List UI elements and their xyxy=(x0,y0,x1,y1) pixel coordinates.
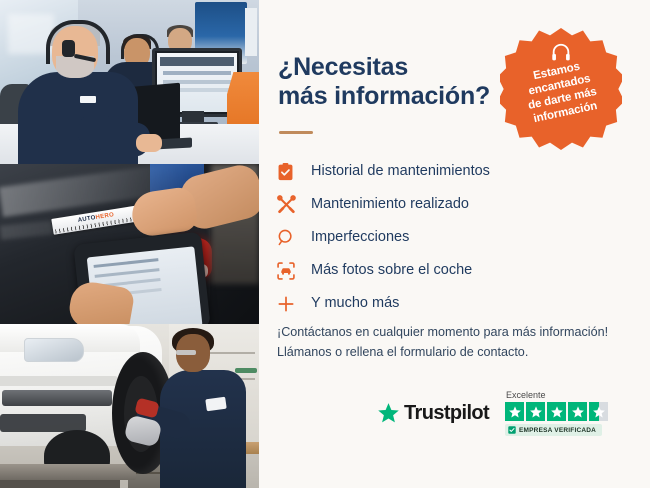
car-bumper xyxy=(0,376,118,386)
star-filled xyxy=(568,402,587,421)
magnifier-icon xyxy=(276,229,311,247)
star-half-filled xyxy=(589,402,608,421)
feature-item-maintenance-done: Mantenimiento realizado xyxy=(276,188,636,221)
trustpilot-score-block: Excelente xyxy=(505,390,637,439)
trustpilot-logo[interactable]: Trustpilot xyxy=(377,402,489,425)
contact-copy-line-1: ¡Contáctanos en cualquier momento para m… xyxy=(277,322,637,342)
trustpilot-rating-label: Excelente xyxy=(505,390,637,400)
headset-earcup xyxy=(62,40,75,57)
plus-icon xyxy=(276,295,311,313)
trustpilot-star-icon xyxy=(377,402,400,425)
promo-card: AUTOHERO xyxy=(0,0,650,488)
feature-item-much-more: Y mucho más xyxy=(276,287,636,320)
verified-company-label: EMPRESA VERIFICADA xyxy=(519,427,596,434)
car-headlight xyxy=(24,338,84,362)
headline-line-2: más información? xyxy=(278,82,518,111)
star-filled xyxy=(526,402,545,421)
foreground-agent-badge xyxy=(80,96,96,103)
car-grille xyxy=(2,390,112,406)
page-title: ¿Necesitas más información? xyxy=(278,53,518,111)
contact-copy: ¡Contáctanos en cualquier momento para m… xyxy=(277,322,637,363)
feature-item-more-photos: Más fotos sobre el coche xyxy=(276,254,636,287)
star-filled xyxy=(547,402,566,421)
call-center-agents-photo xyxy=(0,0,259,164)
trustpilot-rating: Trustpilot Excelente xyxy=(377,390,637,450)
technician-wheel-inspection-photo xyxy=(0,324,259,488)
title-underline-rule xyxy=(279,131,313,134)
tools-icon xyxy=(276,195,311,214)
vehicle-lift-arm xyxy=(0,464,136,480)
car-scan-icon xyxy=(276,262,311,280)
contact-copy-line-2: Llámanos o rellena el formulario de cont… xyxy=(277,342,637,362)
verified-check-icon xyxy=(508,426,516,434)
technician-safety-glasses xyxy=(176,350,196,355)
feature-label: Más fotos sobre el coche xyxy=(311,263,472,278)
photo-column: AUTOHERO xyxy=(0,0,259,488)
feature-item-imperfections: Imperfecciones xyxy=(276,221,636,254)
feature-label: Mantenimiento realizado xyxy=(311,197,469,212)
feature-list: Historial de mantenimientos Mantenimient… xyxy=(276,155,636,320)
vehicle-lift-base xyxy=(0,480,120,488)
foreground-agent-hand xyxy=(136,134,162,152)
star-filled xyxy=(505,402,524,421)
feature-label: Y mucho más xyxy=(311,296,399,311)
feature-item-maintenance-history: Historial de mantenimientos xyxy=(276,155,636,188)
wall-poster-secondary xyxy=(245,8,257,56)
clipboard-check-icon xyxy=(276,163,311,181)
trustpilot-wordmark: Trustpilot xyxy=(404,402,489,425)
support-badge: Estamos encantados de darte más informac… xyxy=(500,28,622,150)
trustpilot-stars xyxy=(505,402,637,421)
feature-label: Imperfecciones xyxy=(311,230,409,245)
green-hose xyxy=(235,368,257,373)
verified-company-badge: EMPRESA VERIFICADA xyxy=(505,424,602,436)
content-panel: ¿Necesitas más información? Estamos enca… xyxy=(259,0,650,488)
headline-line-1: ¿Necesitas xyxy=(278,53,518,82)
car-inspection-ruler-photo: AUTOHERO xyxy=(0,164,259,324)
feature-label: Historial de mantenimientos xyxy=(311,164,490,179)
